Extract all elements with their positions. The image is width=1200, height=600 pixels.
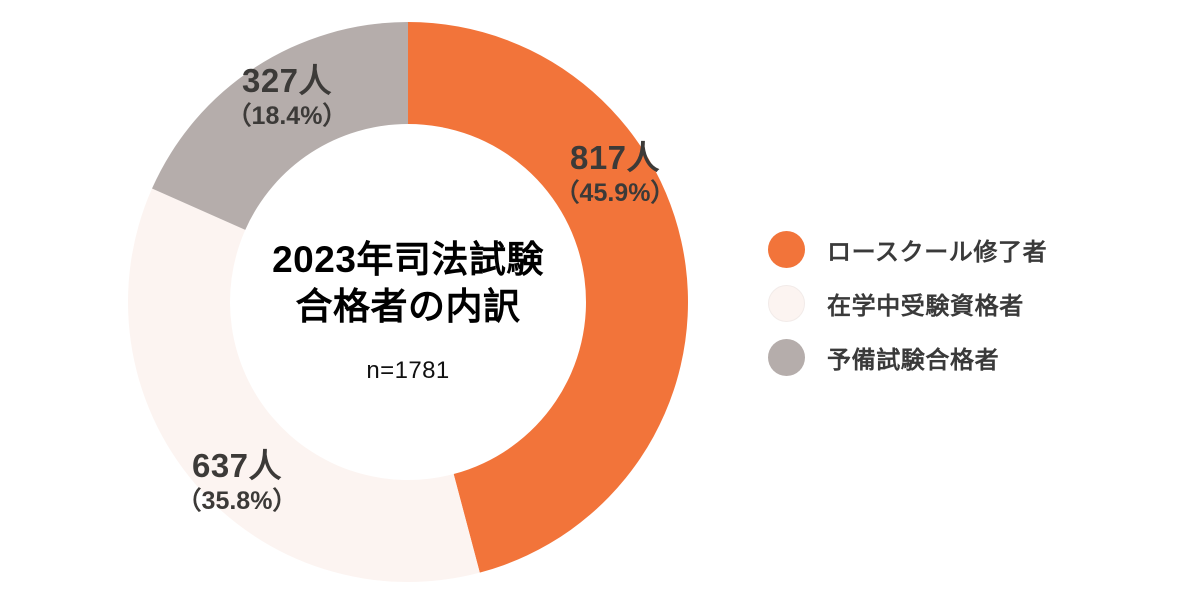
- slice-label-preliminary: 327人 （18.4%）: [172, 63, 402, 130]
- donut-slice-1[interactable]: [128, 189, 480, 582]
- donut-plot-area: 2023年司法試験 合格者の内訳 n=1781 817人 （45.9%） 637…: [0, 0, 760, 600]
- legend-item-preliminary[interactable]: 予備試験合格者: [768, 330, 1188, 384]
- legend-item-law-school[interactable]: ロースクール修了者: [768, 222, 1188, 276]
- legend-label-1: 在学中受験資格者: [827, 286, 1024, 321]
- slice-value-1: 637人: [122, 448, 352, 485]
- slice-value-0: 817人: [500, 140, 730, 177]
- legend-label-0: ロースクール修了者: [827, 232, 1047, 267]
- donut-chart: 2023年司法試験 合格者の内訳 n=1781 817人 （45.9%） 637…: [0, 0, 1200, 600]
- legend-swatch-icon-2: [768, 339, 805, 376]
- slice-label-enrolled: 637人 （35.8%）: [122, 448, 352, 515]
- legend-swatch-icon-0: [768, 231, 805, 268]
- legend-swatch-icon-1: [768, 285, 805, 322]
- slice-value-2: 327人: [172, 63, 402, 100]
- slice-percent-1: （35.8%）: [122, 487, 352, 515]
- slice-label-law-school: 817人 （45.9%）: [500, 140, 730, 207]
- slice-percent-2: （18.4%）: [172, 102, 402, 130]
- slice-percent-0: （45.9%）: [500, 179, 730, 207]
- legend-item-enrolled[interactable]: 在学中受験資格者: [768, 276, 1188, 330]
- chart-legend: ロースクール修了者 在学中受験資格者 予備試験合格者: [768, 222, 1188, 384]
- legend-label-2: 予備試験合格者: [827, 340, 999, 375]
